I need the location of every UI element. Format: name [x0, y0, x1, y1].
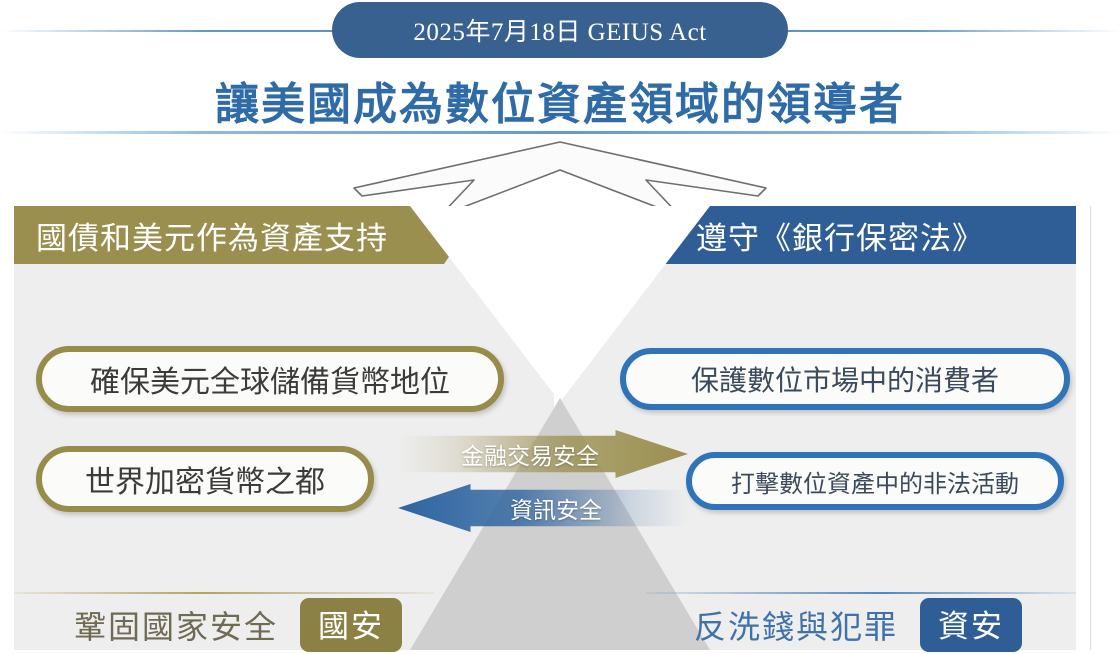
footer-rule-left [14, 592, 434, 594]
list-item[interactable]: 確保美元全球儲備貨幣地位 [36, 346, 504, 412]
status-badge: 資安 [920, 598, 1022, 652]
panel-left-heading: 國債和美元作為資產支持 [14, 206, 484, 264]
footer-right-label: 反洗錢與犯罪 [694, 602, 898, 648]
title-divider [0, 131, 1120, 134]
footer-left: 鞏固國家安全 國安 [74, 600, 402, 650]
top-rule-left [0, 30, 340, 32]
list-item[interactable]: 打擊數位資產中的非法活動 [686, 452, 1064, 510]
slide-canvas: 2025年7月18日 GEIUS Act 讓美國成為數位資產領域的領導者 國債和… [0, 0, 1120, 654]
date-title-pill: 2025年7月18日 GEIUS Act [332, 2, 788, 58]
panel-right-edge [1090, 206, 1091, 650]
up-chevron-icon [350, 136, 770, 216]
footer-left-label: 鞏固國家安全 [74, 602, 278, 648]
page-title: 讓美國成為數位資產領域的領導者 [0, 68, 1120, 132]
list-item[interactable]: 世界加密貨幣之都 [36, 446, 374, 512]
footer-rule-right [646, 592, 1076, 594]
status-badge: 國安 [300, 598, 402, 652]
top-rule-right [780, 30, 1120, 32]
footer-right: 反洗錢與犯罪 資安 [694, 600, 1022, 650]
list-item[interactable]: 保護數位市場中的消費者 [620, 348, 1070, 410]
